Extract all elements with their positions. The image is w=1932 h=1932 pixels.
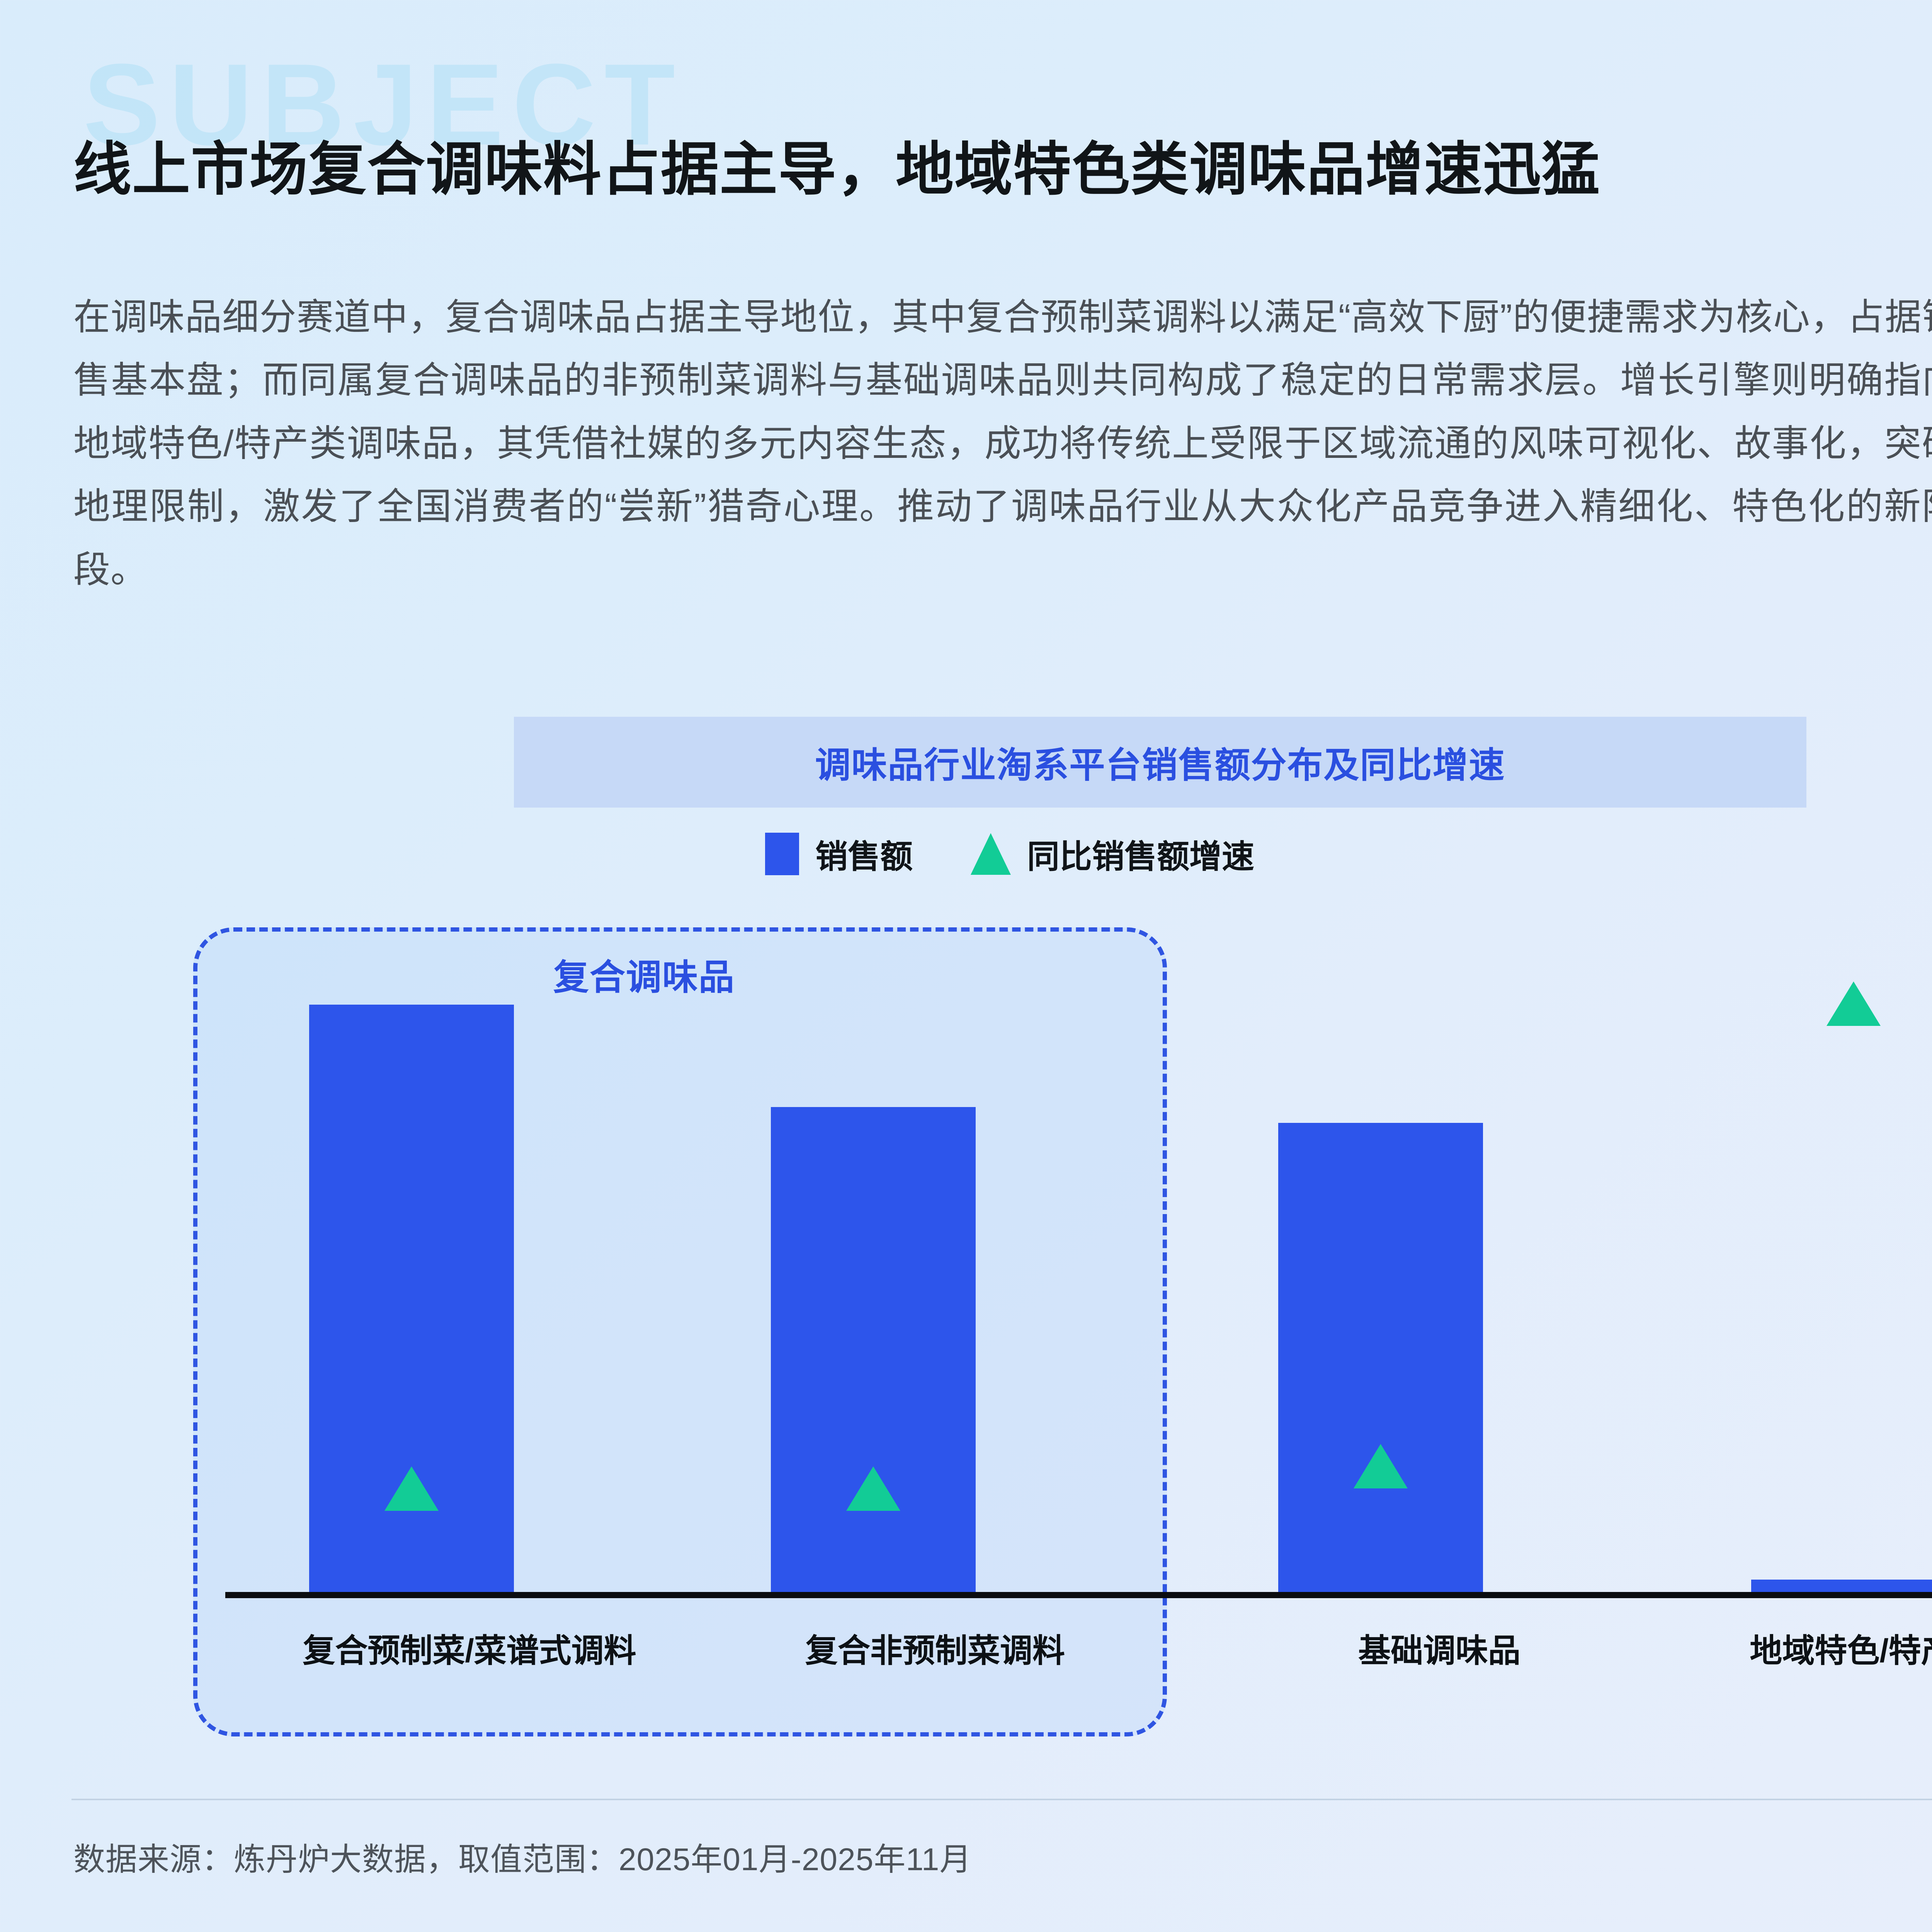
- bar-compound-prepared[interactable]: [309, 1005, 514, 1595]
- chart-title: 调味品行业淘系平台销售额分布及同比增速: [815, 736, 1505, 788]
- bar-swatch-icon: [765, 833, 799, 875]
- chart-legend: 销售额 同比销售额增速: [765, 829, 1577, 879]
- compound-seasoning-group-box: [193, 927, 1167, 1736]
- x-axis-label-0: 复合预制菜/菜谱式调料: [303, 1625, 636, 1672]
- compound-seasoning-group-label: 复合调味品: [553, 949, 735, 1000]
- chart-title-band: 调味品行业淘系平台销售额分布及同比增速: [514, 717, 1806, 808]
- x-axis-label-1: 复合非预制菜调料: [805, 1625, 1065, 1672]
- footer-divider: [71, 1799, 1932, 1800]
- data-source-note: 数据来源：炼丹炉大数据，取值范围：2025年01月-2025年11月: [73, 1833, 971, 1879]
- legend-label-growth: 同比销售额增速: [1027, 831, 1254, 878]
- page-title: 线上市场复合调味料占据主导，地域特色类调味品增速迅猛: [73, 133, 1600, 206]
- infographic-page: SUBJECT 线上市场复合调味料占据主导，地域特色类调味品增速迅猛 在调味品细…: [0, 0, 1932, 1932]
- growth-marker-basic-seasoning[interactable]: [1354, 1444, 1408, 1488]
- growth-marker-regional-specialty[interactable]: [1827, 981, 1881, 1026]
- x-axis-label-2: 基础调味品: [1358, 1625, 1520, 1672]
- bar-basic-seasoning[interactable]: [1278, 1123, 1483, 1595]
- x-axis-label-3: 地域特色/特产类调味品: [1750, 1625, 1932, 1672]
- bar-regional-specialty[interactable]: [1751, 1580, 1932, 1595]
- x-axis-line: [225, 1592, 1932, 1598]
- body-paragraph: 在调味品细分赛道中，复合调味品占据主导地位，其中复合预制菜调料以满足“高效下厨”…: [73, 286, 1932, 602]
- legend-item-sales[interactable]: 销售额: [765, 831, 913, 878]
- growth-marker-compound-prepared[interactable]: [384, 1466, 439, 1511]
- triangle-swatch-icon: [971, 833, 1011, 875]
- legend-item-growth[interactable]: 同比销售额增速: [971, 831, 1254, 878]
- legend-label-sales: 销售额: [815, 831, 913, 878]
- growth-marker-compound-nonprepared[interactable]: [846, 1466, 900, 1511]
- bar-compound-nonprepared[interactable]: [771, 1107, 976, 1595]
